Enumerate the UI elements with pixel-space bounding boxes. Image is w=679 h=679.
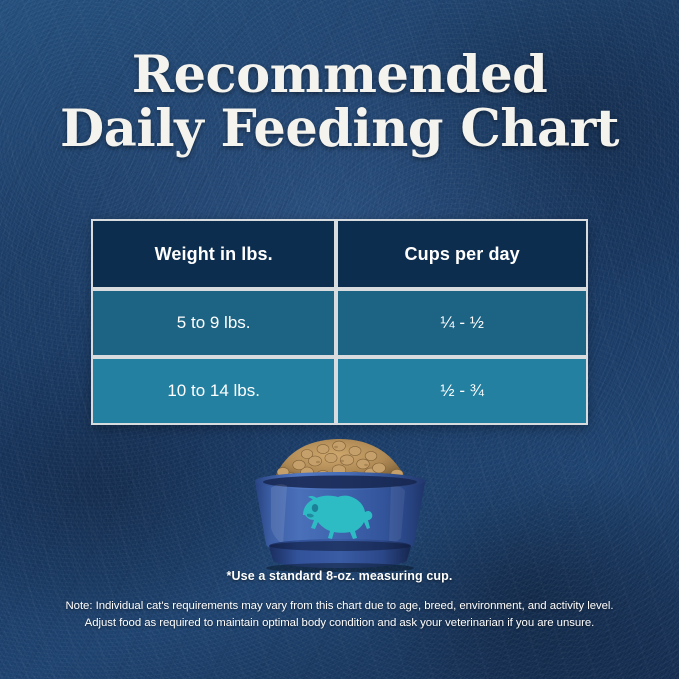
cell-weight-range-1: 5 to 9 lbs. <box>91 289 336 357</box>
page-title-line-1: Recommended <box>0 48 679 102</box>
table-row: 10 to 14 lbs. ½ - ¾ <box>91 357 588 425</box>
feeding-chart-page: Recommended Daily Feeding Chart Weight i… <box>0 0 679 679</box>
table-row: 5 to 9 lbs. ¼ - ½ <box>91 289 588 357</box>
disclaimer-note: Note: Individual cat's requirements may … <box>0 598 679 632</box>
cell-cups-per-day-2: ½ - ¾ <box>336 357 588 425</box>
disclaimer-note-line-1: Note: Individual cat's requirements may … <box>0 598 679 615</box>
table-body: 5 to 9 lbs. ¼ - ½ 10 to 14 lbs. ½ - ¾ <box>91 289 588 425</box>
page-title: Recommended Daily Feeding Chart <box>0 48 679 156</box>
page-title-line-2: Daily Feeding Chart <box>0 102 679 156</box>
measuring-cup-footnote: *Use a standard 8-oz. measuring cup. <box>0 569 679 583</box>
food-bowl-svg <box>231 432 449 572</box>
feeding-chart-table: Weight in lbs. Cups per day 5 to 9 lbs. … <box>91 219 588 425</box>
table-header-row: Weight in lbs. Cups per day <box>91 219 588 289</box>
table-header: Weight in lbs. Cups per day <box>91 219 588 289</box>
column-header-cups: Cups per day <box>336 219 588 289</box>
cell-cups-per-day-1: ¼ - ½ <box>336 289 588 357</box>
food-bowl-illustration <box>231 432 449 572</box>
column-header-weight: Weight in lbs. <box>91 219 336 289</box>
disclaimer-note-line-2: Adjust food as required to maintain opti… <box>0 615 679 632</box>
cell-weight-range-2: 10 to 14 lbs. <box>91 357 336 425</box>
